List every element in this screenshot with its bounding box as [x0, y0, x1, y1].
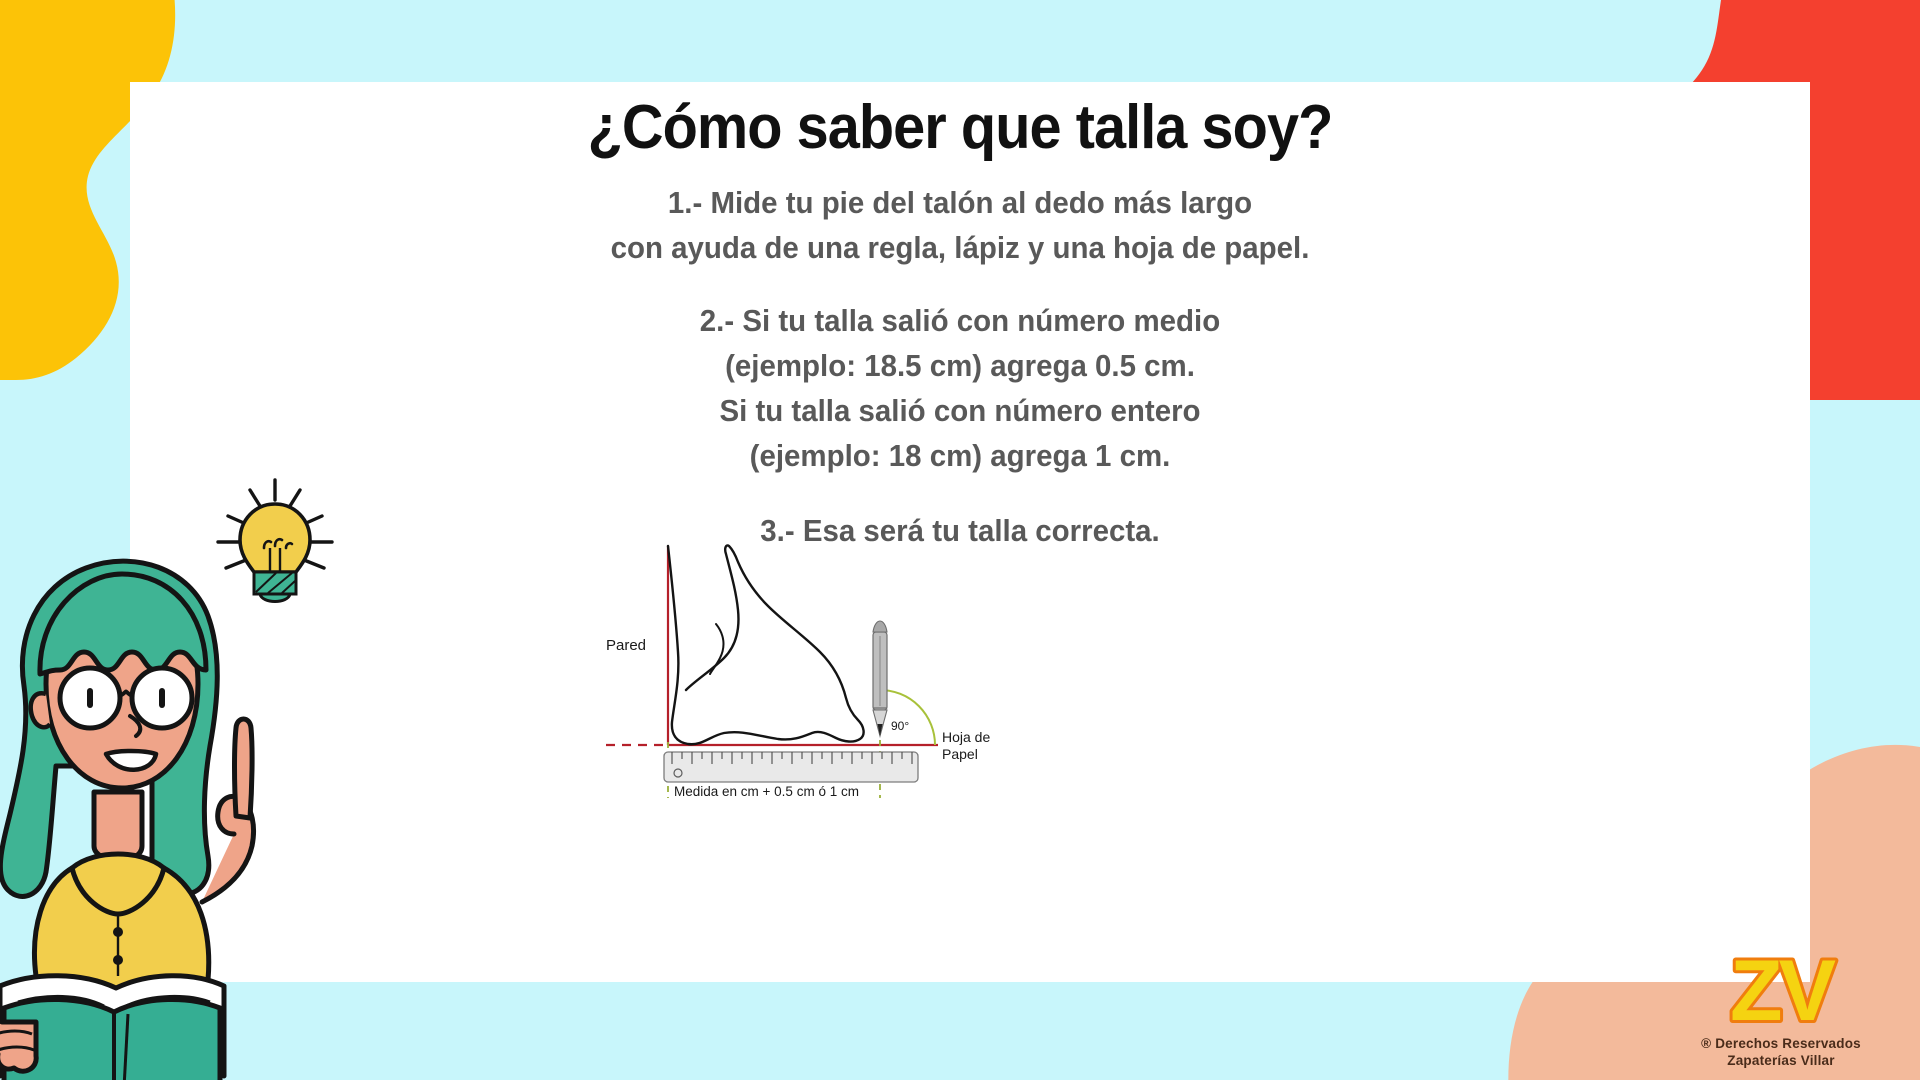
svg-text:ZV: ZV: [1730, 943, 1836, 1036]
pencil-icon: [873, 621, 887, 736]
paper-label-line2: Papel: [942, 746, 978, 762]
step-line-3: 2.- Si tu talla salió con número medio: [48, 303, 1872, 339]
right-angle-arc: [880, 690, 935, 745]
ruler-caption: Medida en cm + 0.5 cm ó 1 cm: [674, 784, 859, 799]
zv-logo-mark: ZV: [1696, 940, 1866, 1036]
right-eye: [159, 688, 165, 708]
step-line-1: 1.- Mide tu pie del talón al dedo más la…: [48, 185, 1872, 221]
angle-label: 90°: [891, 719, 909, 733]
left-eye: [87, 688, 93, 708]
page-title: ¿Cómo saber que talla soy?: [67, 92, 1853, 163]
girl-illustration: [0, 516, 294, 1080]
step-line-2: con ayuda de una regla, lápiz y una hoja…: [48, 230, 1872, 266]
rights-line-1: ® Derechos Reservados: [1666, 1036, 1896, 1053]
neck: [94, 792, 142, 860]
step-line-5: Si tu talla salió con número entero: [48, 393, 1872, 429]
rights-line-2: Zapaterías Villar: [1666, 1053, 1896, 1070]
foot-measurement-diagram: Pared 90° Hoja de Papel: [598, 540, 1018, 805]
foot-outline: [668, 545, 864, 744]
poster-canvas: ¿Cómo saber que talla soy? 1.- Mide tu p…: [0, 0, 1920, 1080]
wall-label: Pared: [606, 637, 646, 654]
ruler-icon: [664, 752, 918, 782]
pointing-finger: [235, 719, 253, 818]
paper-label-line1: Hoja de: [942, 729, 990, 745]
brand-logo-block: ZV ® Derechos Reservados Zapaterías Vill…: [1666, 940, 1896, 1070]
step-line-4: (ejemplo: 18.5 cm) agrega 0.5 cm.: [48, 348, 1872, 384]
